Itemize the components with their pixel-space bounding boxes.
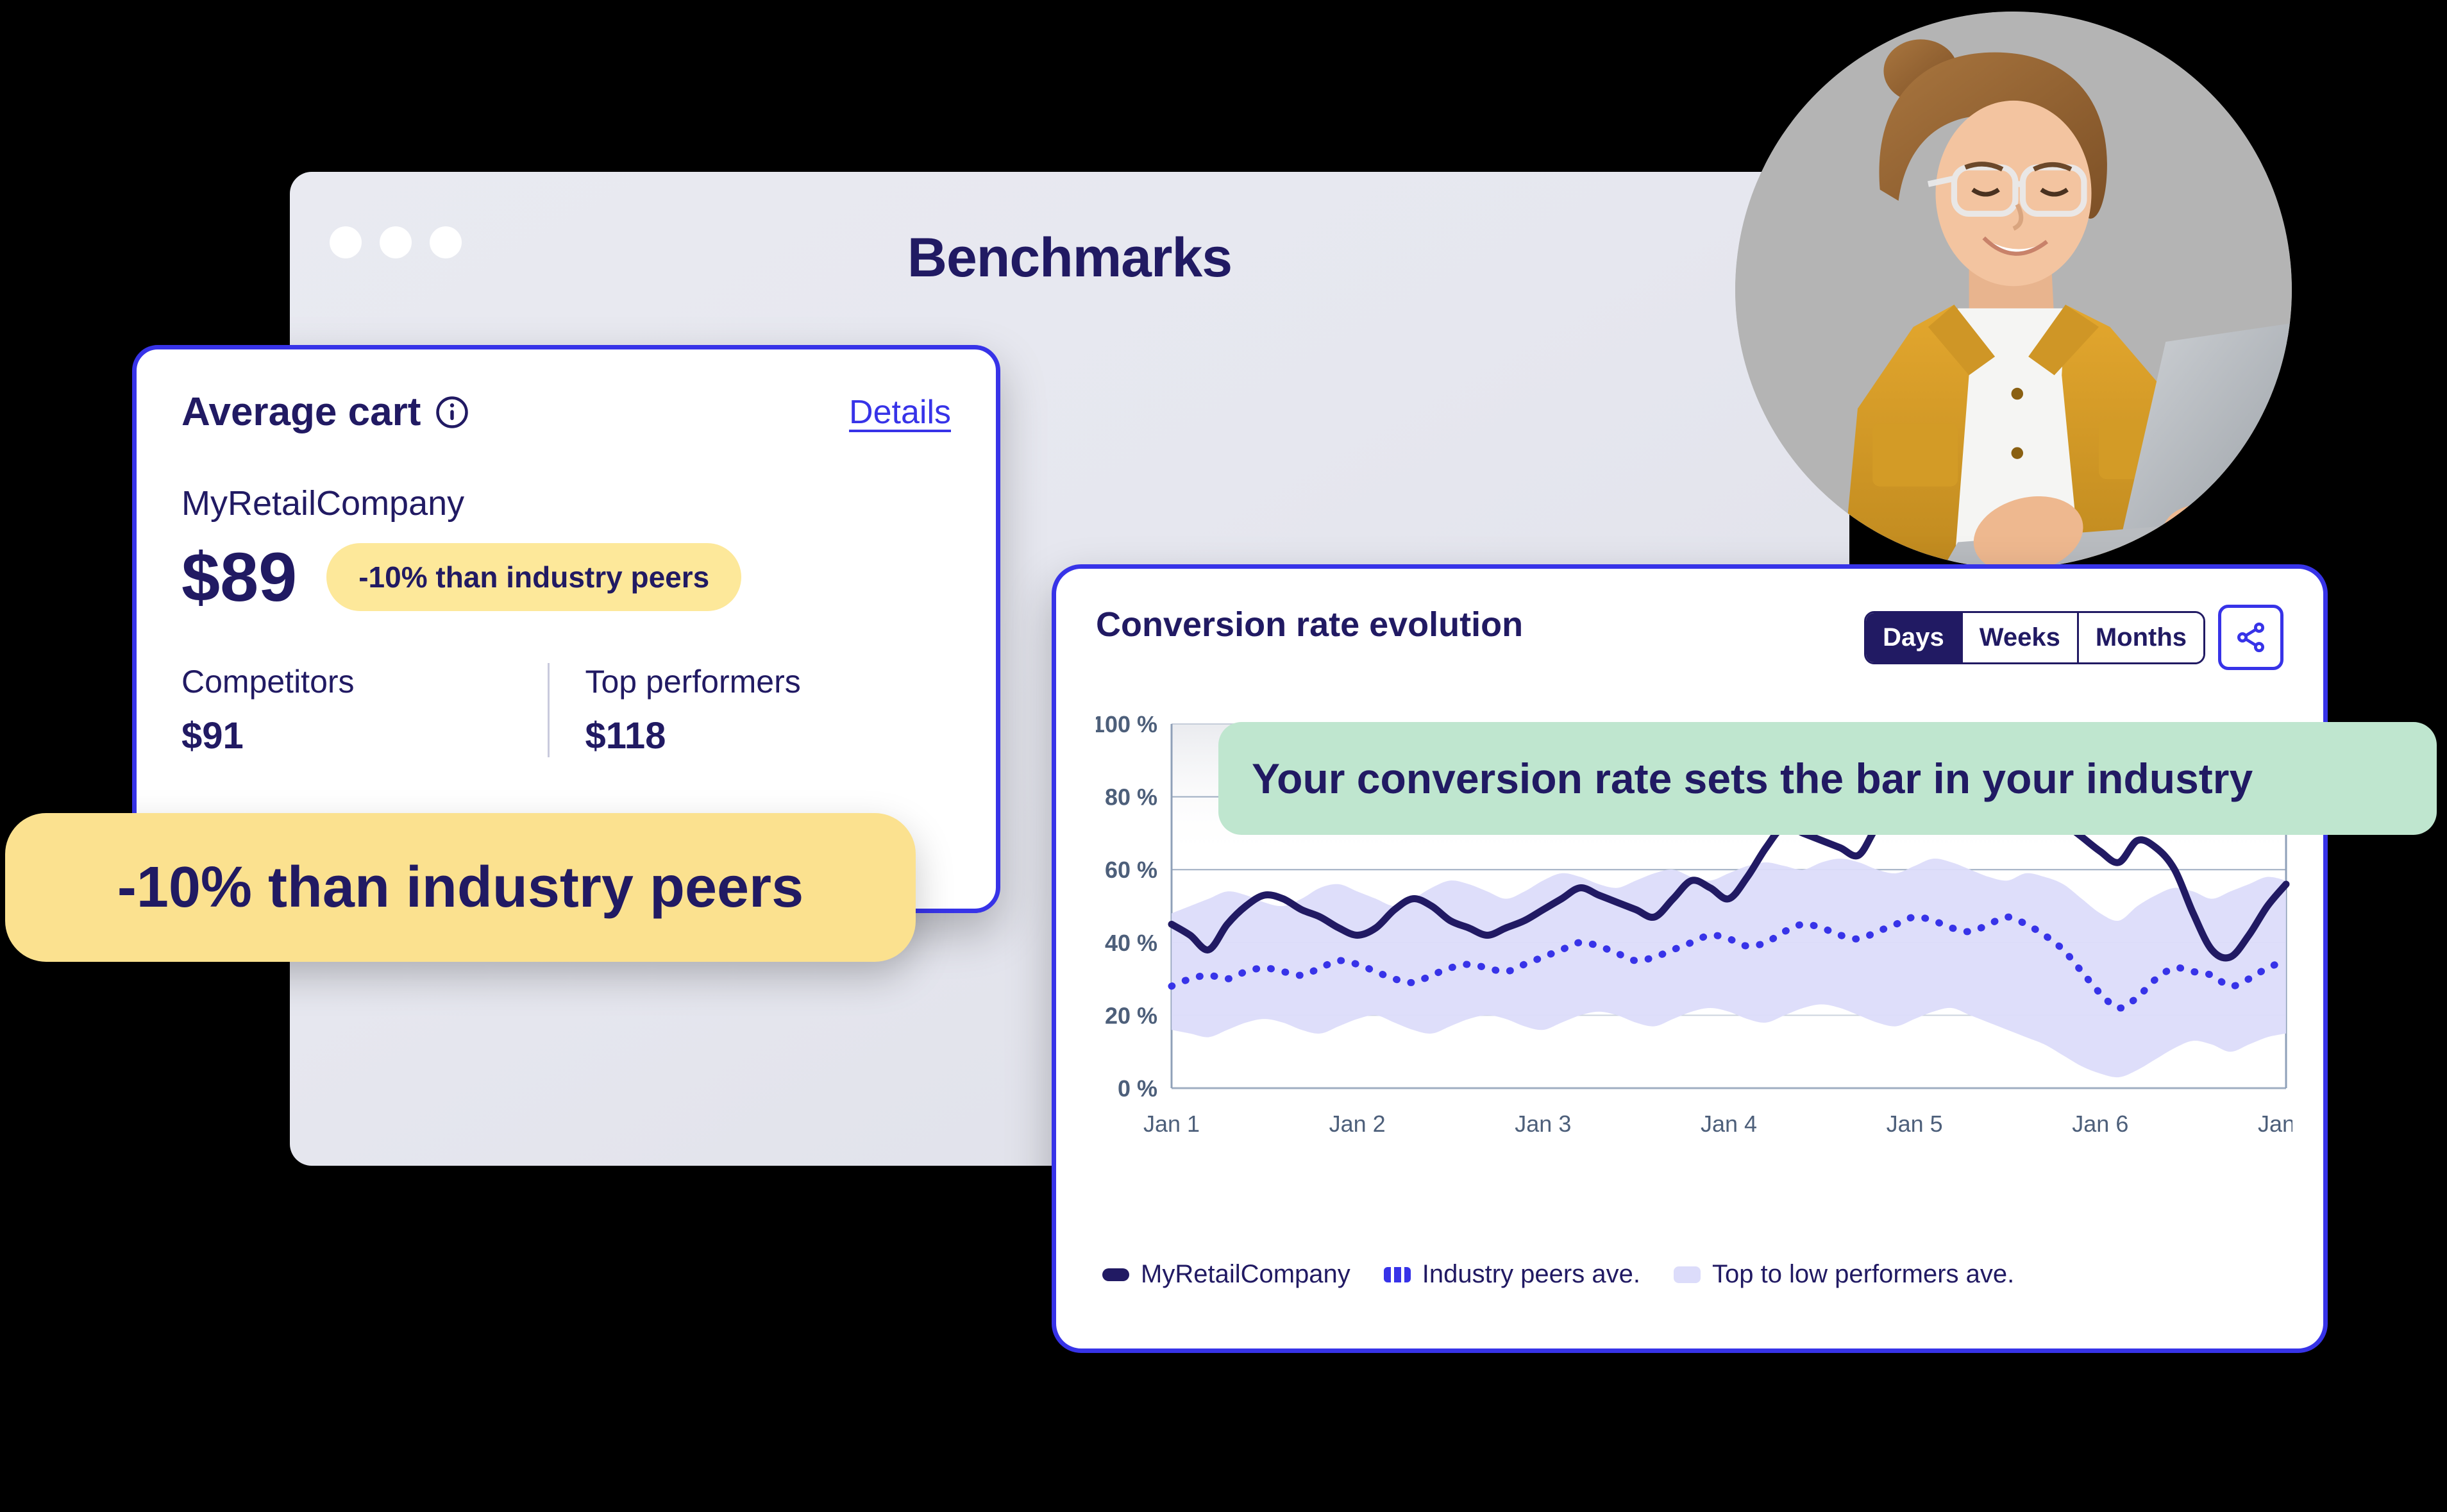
svg-text:Jan 6: Jan 6 [2072, 1111, 2128, 1137]
comparison-value: $118 [585, 714, 952, 757]
chart-legend: MyRetailCompany Industry peers ave. Top … [1102, 1260, 2014, 1289]
avatar-photo [1735, 12, 2292, 568]
svg-text:100 %: 100 % [1096, 715, 1157, 737]
svg-text:80 %: 80 % [1105, 784, 1157, 811]
svg-text:20 %: 20 % [1105, 1002, 1157, 1029]
chart-title: Conversion rate evolution [1096, 605, 1523, 644]
comparison-row: Competitors $91 Top performers $118 [181, 663, 951, 757]
svg-text:40 %: 40 % [1105, 930, 1157, 956]
tab-weeks[interactable]: Weeks [1963, 613, 2079, 662]
legend-item-top-to-low[interactable]: Top to low performers ave. [1674, 1260, 2014, 1289]
green-callout-banner: Your conversion rate sets the bar in you… [1218, 722, 2437, 835]
comparison-top-performers: Top performers $118 [548, 663, 952, 757]
tab-months[interactable]: Months [2079, 613, 2203, 662]
legend-swatch-solid-icon [1102, 1268, 1129, 1281]
average-cart-value: $89 [181, 542, 297, 612]
comparison-competitors: Competitors $91 [181, 663, 548, 757]
svg-text:Jan 4: Jan 4 [1701, 1111, 1757, 1137]
comparison-label: Top performers [585, 663, 952, 700]
legend-label: Industry peers ave. [1422, 1260, 1640, 1289]
legend-swatch-dotted-icon [1384, 1267, 1411, 1282]
average-cart-label: Average cart [181, 389, 421, 435]
svg-text:Jan 7: Jan 7 [2258, 1111, 2292, 1137]
legend-swatch-band-icon [1674, 1266, 1701, 1283]
legend-label: Top to low performers ave. [1712, 1260, 2014, 1289]
comparison-badge: -10% than industry peers [326, 543, 741, 611]
share-icon [2234, 621, 2267, 654]
card-header: Average cart Details [181, 389, 951, 435]
card-title: Average cart [181, 389, 469, 435]
legend-label: MyRetailCompany [1141, 1260, 1350, 1289]
comparison-value: $91 [181, 714, 548, 757]
tab-days[interactable]: Days [1866, 613, 1963, 662]
avatar [1735, 12, 2292, 568]
share-button[interactable] [2218, 605, 2283, 670]
legend-item-industry-peers[interactable]: Industry peers ave. [1384, 1260, 1640, 1289]
conversion-rate-card: Conversion rate evolution Days Weeks Mon… [1052, 564, 2328, 1353]
comparison-label: Competitors [181, 663, 548, 700]
chart-controls: Days Weeks Months [1864, 605, 2283, 670]
chart-header: Conversion rate evolution Days Weeks Mon… [1096, 605, 2283, 670]
legend-item-myretailcompany[interactable]: MyRetailCompany [1102, 1260, 1350, 1289]
svg-text:0 %: 0 % [1118, 1075, 1157, 1102]
range-segmented-control: Days Weeks Months [1864, 611, 2205, 664]
company-name: MyRetailCompany [181, 483, 951, 523]
page-title: Benchmarks [290, 226, 1849, 290]
details-link[interactable]: Details [849, 393, 951, 432]
info-icon[interactable] [435, 395, 469, 430]
svg-text:60 %: 60 % [1105, 857, 1157, 883]
svg-text:Jan 5: Jan 5 [1887, 1111, 1943, 1137]
svg-text:Jan 2: Jan 2 [1329, 1111, 1386, 1137]
svg-text:Jan 1: Jan 1 [1143, 1111, 1200, 1137]
yellow-callout-badge: -10% than industry peers [5, 813, 916, 962]
value-row: $89 -10% than industry peers [181, 542, 951, 612]
svg-text:Jan 3: Jan 3 [1515, 1111, 1571, 1137]
